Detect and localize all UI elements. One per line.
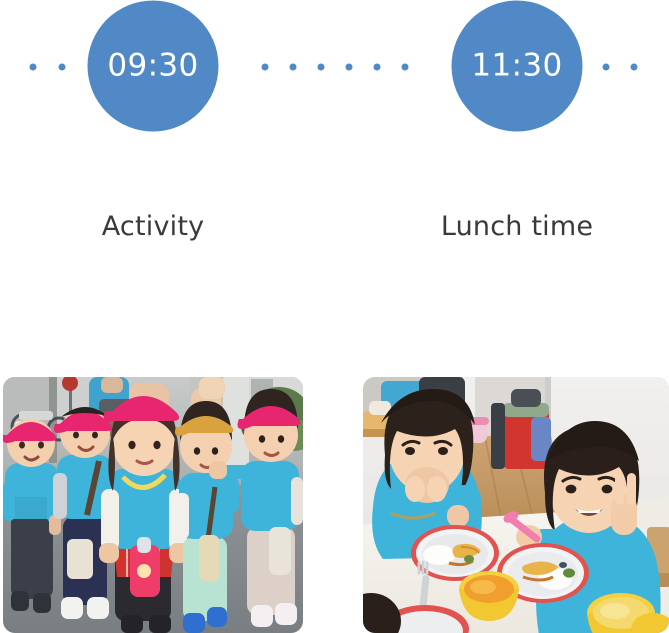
event-label-activity: Activity xyxy=(102,206,205,248)
timeline-dot xyxy=(318,64,325,71)
timeline-strip: 09:30 11:30 xyxy=(0,0,669,135)
timeline-dot xyxy=(290,64,297,71)
time-label-1130: 11:30 xyxy=(471,51,562,82)
event-label-row: Activity Lunch time xyxy=(0,206,669,256)
time-label-0930: 09:30 xyxy=(107,51,198,82)
timeline-dot xyxy=(374,64,381,71)
timeline-dot xyxy=(59,64,66,71)
timeline-dot xyxy=(262,64,269,71)
timeline-dot xyxy=(346,64,353,71)
timeline-node-1130[interactable]: 11:30 xyxy=(452,1,583,132)
timeline-dot xyxy=(402,64,409,71)
timeline-dot xyxy=(631,64,638,71)
photo-lunch-image xyxy=(363,377,669,633)
timeline-node-0930[interactable]: 09:30 xyxy=(88,1,219,132)
photo-activity[interactable] xyxy=(3,377,303,633)
photo-lunch[interactable] xyxy=(363,377,669,633)
timeline-dot xyxy=(30,64,37,71)
timeline-dot xyxy=(603,64,610,71)
event-label-lunch-time: Lunch time xyxy=(441,206,593,248)
photo-activity-image xyxy=(3,377,303,633)
